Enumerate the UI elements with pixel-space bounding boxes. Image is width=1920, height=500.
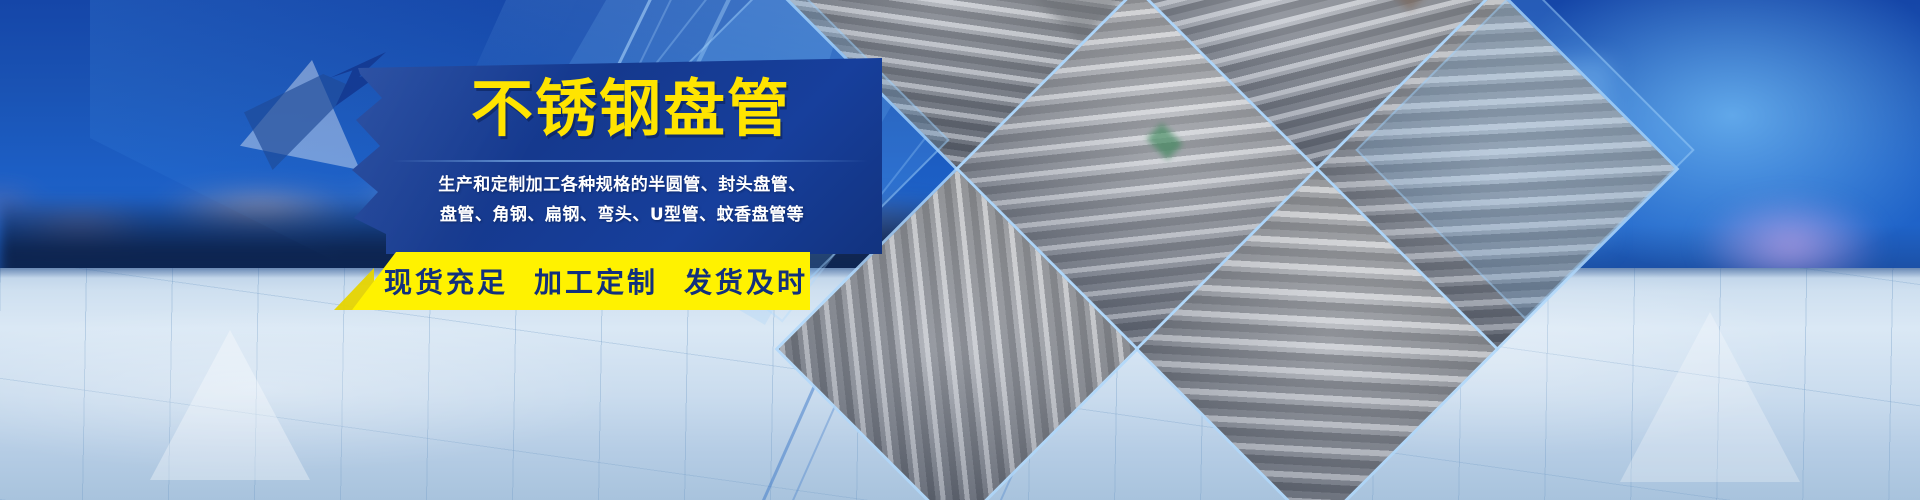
highlight-item-2: 加工定制 [534, 261, 658, 301]
highlight-item-1: 现货充足 [384, 261, 508, 301]
product-image-diamond-grid [832, 0, 1352, 500]
banner-title: 不锈钢盘管 [396, 78, 866, 140]
highlight-item-3: 发货及时 [684, 261, 808, 301]
banner-subtitle-line-2: 盘管、角钢、扁钢、弯头、U型管、蚊香盘管等 [372, 200, 872, 225]
banner-subtitle-line-1: 生产和定制加工各种规格的半圆管、封头盘管、 [372, 170, 872, 195]
product-hero-banner: 不锈钢盘管 生产和定制加工各种规格的半圆管、封头盘管、 盘管、角钢、扁钢、弯头、… [0, 0, 1920, 500]
ribbon-divider-line [392, 160, 868, 162]
highlight-banner-text: 现货充足 加工定制 发货及时 [352, 252, 810, 310]
